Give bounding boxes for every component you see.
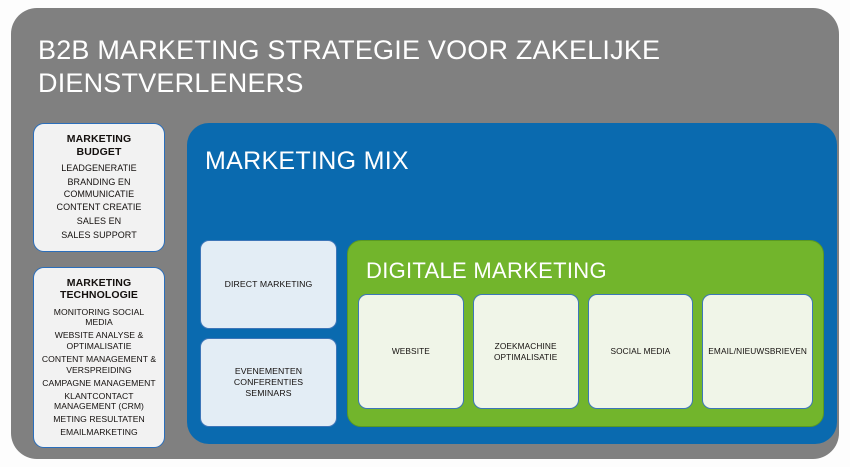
sidebar-card-marketing-technologie[interactable]: MARKETING TECHNOLOGIE MONITORING SOCIAL … xyxy=(33,267,165,448)
list-item[interactable]: LEADGENERATIE xyxy=(40,162,158,176)
card-social-media[interactable]: SOCIAL MEDIA xyxy=(588,294,694,409)
card-email-nieuwsbrieven[interactable]: EMAIL/NIEUWSBRIEVEN xyxy=(702,294,813,409)
list-item[interactable]: MONITORING SOCIAL MEDIA xyxy=(40,306,158,330)
sidebar-card-title: MARKETING BUDGET xyxy=(40,133,158,158)
diagram-root: B2B MARKETING STRATEGIE VOOR ZAKELIJKE D… xyxy=(0,0,850,467)
list-item[interactable]: CAMPAGNE MANAGEMENT xyxy=(40,376,158,389)
card-website[interactable]: WEBSITE xyxy=(358,294,464,409)
sidebar-card-marketing-budget[interactable]: MARKETING BUDGET LEADGENERATIE BRANDING … xyxy=(33,123,165,252)
card-label: DIRECT MARKETING xyxy=(225,279,313,290)
sidebar-card-item-list: LEADGENERATIE BRANDING EN COMMUNICATIE C… xyxy=(40,162,158,242)
digitale-marketing-title: DIGITALE MARKETING xyxy=(348,241,823,283)
list-item[interactable]: KLANTCONTACT MANAGEMENT (CRM) xyxy=(40,389,158,413)
card-label: EMAIL/NIEUWSBRIEVEN xyxy=(708,346,807,357)
list-item[interactable]: METING RESULTATEN xyxy=(40,413,158,426)
marketing-mix-body: DIRECT MARKETING EVENEMENTEN CONFERENTIE… xyxy=(200,240,824,427)
list-item[interactable]: CONTENT CREATIE xyxy=(40,201,158,215)
page-title: B2B MARKETING STRATEGIE VOOR ZAKELIJKE D… xyxy=(38,34,738,100)
list-item[interactable]: SALES EN xyxy=(40,215,158,229)
card-zoekmachine-optimalisatie[interactable]: ZOEKMACHINE OPTIMALISATIE xyxy=(473,294,579,409)
marketing-mix-title: MARKETING MIX xyxy=(205,147,409,175)
digitale-marketing-card-grid: WEBSITE ZOEKMACHINE OPTIMALISATIE SOCIAL… xyxy=(348,283,823,426)
list-item[interactable]: CONTENT MANAGEMENT & VERSPREIDING xyxy=(40,353,158,377)
sidebar-card-title: MARKETING TECHNOLOGIE xyxy=(40,277,158,302)
list-item[interactable]: BRANDING EN COMMUNICATIE xyxy=(40,176,158,201)
card-direct-marketing[interactable]: DIRECT MARKETING xyxy=(200,240,337,329)
slide-background-panel: B2B MARKETING STRATEGIE VOOR ZAKELIJKE D… xyxy=(11,8,839,459)
list-item[interactable]: SALES SUPPORT xyxy=(40,229,158,243)
card-label: WEBSITE xyxy=(392,346,430,357)
list-item[interactable]: WEBSITE ANALYSE & OPTIMALISATIE xyxy=(40,329,158,353)
card-label: ZOEKMACHINE OPTIMALISATIE xyxy=(494,341,557,362)
card-label: SOCIAL MEDIA xyxy=(610,346,670,357)
sidebar-card-item-list: MONITORING SOCIAL MEDIA WEBSITE ANALYSE … xyxy=(40,306,158,439)
card-evenementen-conferenties-seminars[interactable]: EVENEMENTEN CONFERENTIES SEMINARS xyxy=(200,338,337,427)
offline-marketing-column: DIRECT MARKETING EVENEMENTEN CONFERENTIE… xyxy=(200,240,337,427)
sidebar: MARKETING BUDGET LEADGENERATIE BRANDING … xyxy=(33,123,165,448)
marketing-mix-panel: MARKETING MIX DIRECT MARKETING EVENEMENT… xyxy=(187,123,837,444)
list-item[interactable]: EMAILMARKETING xyxy=(40,426,158,439)
card-label: EVENEMENTEN CONFERENTIES SEMINARS xyxy=(208,366,329,399)
digitale-marketing-panel: DIGITALE MARKETING WEBSITE ZOEKMACHINE O… xyxy=(347,240,824,427)
